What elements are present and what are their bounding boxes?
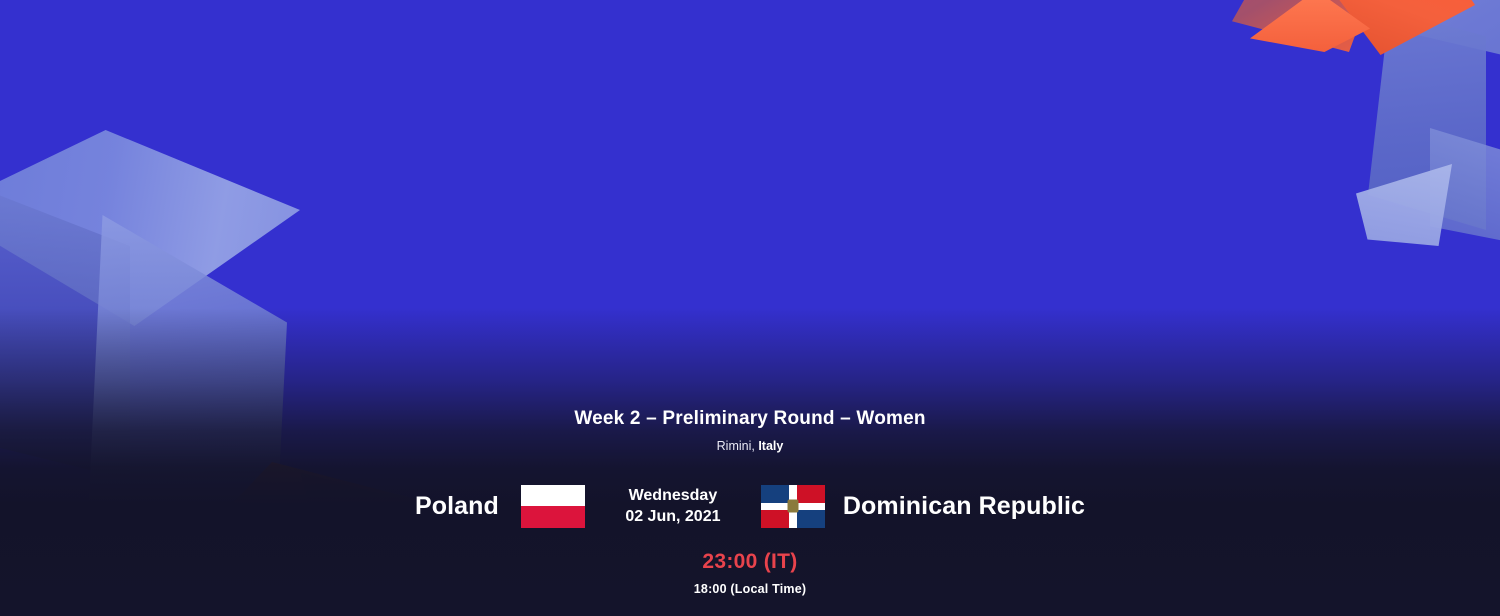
match-date: Wednesday 02 Jun, 2021 (585, 485, 761, 528)
home-team-name: Poland (415, 492, 499, 521)
orange-prism-top-right-c-icon (1250, 0, 1370, 52)
match-banner: Week 2 – Preliminary Round – Women Rimin… (0, 0, 1500, 616)
flag-dominican-republic-icon (761, 485, 825, 528)
dr-flag-coat-of-arms (787, 500, 798, 513)
match-time-block: 23:00 (IT) 18:00 (Local Time) (694, 550, 806, 596)
right-prism-top-face-icon (1348, 0, 1500, 62)
dr-flag-quadrant-top-right (797, 485, 825, 503)
left-prism-top-face-icon (0, 130, 300, 330)
venue-line: Rimini, Italy (717, 439, 784, 453)
orange-prism-top-right-b-icon (1300, 0, 1475, 55)
orange-prism-top-right-a-icon (1232, 0, 1382, 52)
right-prism-highlight-icon (1356, 164, 1452, 246)
dr-flag-quadrant-top-left (761, 485, 789, 503)
match-date-full: 02 Jun, 2021 (585, 506, 761, 528)
right-prism-side-face-icon (1430, 128, 1500, 248)
dr-flag-quadrant-bottom-right (797, 510, 825, 528)
venue-city: Rimini, (717, 439, 755, 453)
match-weekday: Wednesday (585, 485, 761, 507)
away-team-name: Dominican Republic (843, 492, 1085, 521)
dr-flag-quadrant-bottom-left (761, 510, 789, 528)
round-title: Week 2 – Preliminary Round – Women (574, 408, 925, 431)
poland-flag-red-band (521, 506, 585, 528)
match-row: Poland Wednesday 02 Jun, 2021 Dominican … (415, 485, 1085, 528)
poland-flag-white-band (521, 485, 585, 507)
flag-poland-icon (521, 485, 585, 528)
match-time-primary: 23:00 (IT) (694, 550, 806, 574)
right-prism-front-face-icon (1368, 10, 1486, 230)
match-time-local: 18:00 (Local Time) (694, 582, 806, 596)
venue-country: Italy (758, 439, 783, 453)
match-info-panel: Week 2 – Preliminary Round – Women Rimin… (0, 408, 1500, 596)
